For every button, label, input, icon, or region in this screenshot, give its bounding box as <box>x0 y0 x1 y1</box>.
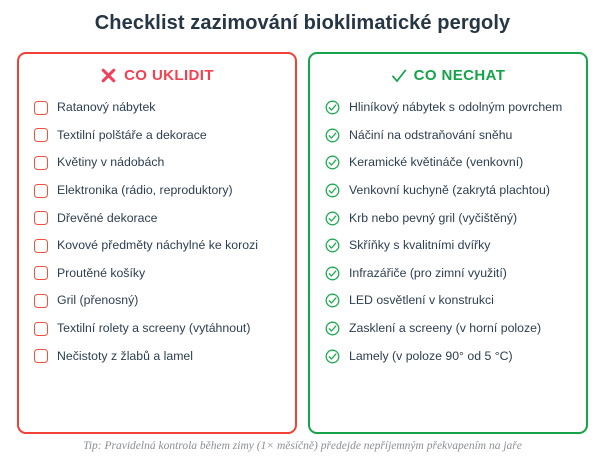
circle-check-icon[interactable] <box>325 183 340 198</box>
circle-check-icon[interactable] <box>325 349 340 364</box>
remove-items-list: Ratanový nábytek Textilní polštáře a dek… <box>19 89 295 370</box>
list-item[interactable]: Ratanový nábytek <box>19 94 295 122</box>
keep-items-list: Hliníkový nábytek s odolným povrchem Náč… <box>310 89 586 370</box>
list-item[interactable]: Elektronika (rádio, reproduktory) <box>19 177 295 205</box>
panel-keep-header-label: CO NECHAT <box>414 67 506 84</box>
circle-check-icon[interactable] <box>325 238 340 253</box>
list-item-label: Zasklení a screeny (v horní poloze) <box>349 321 541 336</box>
list-item-label: Květiny v nádobách <box>57 155 164 170</box>
panels-container: CO UKLIDIT Ratanový nábytek Textilní pol… <box>17 52 588 434</box>
list-item-label: Nečistoty z žlabů a lamel <box>57 349 193 364</box>
check-icon <box>391 68 407 84</box>
empty-checkbox-icon[interactable] <box>34 266 48 280</box>
list-item-label: Krb nebo pevný gril (vyčištěný) <box>349 211 517 226</box>
list-item[interactable]: Keramické květináče (venkovní) <box>310 149 586 177</box>
empty-checkbox-icon[interactable] <box>34 294 48 308</box>
panel-co-nechat: CO NECHAT Hliníkový nábytek s odolným po… <box>308 52 588 434</box>
list-item-label: Skříňky s kvalitními dvířky <box>349 238 490 253</box>
circle-check-icon[interactable] <box>325 321 340 336</box>
empty-checkbox-icon[interactable] <box>34 211 48 225</box>
circle-check-icon[interactable] <box>325 155 340 170</box>
list-item[interactable]: Skříňky s kvalitními dvířky <box>310 232 586 260</box>
empty-checkbox-icon[interactable] <box>34 128 48 142</box>
list-item[interactable]: Lamely (v poloze 90° od 5 °C) <box>310 342 586 370</box>
checklist-infographic: Checklist zazimování bioklimatické pergo… <box>0 0 605 461</box>
list-item[interactable]: LED osvětlení v konstrukci <box>310 287 586 315</box>
list-item[interactable]: Kovové předměty náchylné ke korozi <box>19 232 295 260</box>
list-item[interactable]: Proutěné košíky <box>19 260 295 288</box>
circle-check-icon[interactable] <box>325 128 340 143</box>
list-item[interactable]: Hliníkový nábytek s odolným povrchem <box>310 94 586 122</box>
list-item-label: Proutěné košíky <box>57 266 145 281</box>
list-item[interactable]: Venkovní kuchyně (zakrytá plachtou) <box>310 177 586 205</box>
list-item-label: Lamely (v poloze 90° od 5 °C) <box>349 349 513 364</box>
list-item[interactable]: Infrazářiče (pro zimní využití) <box>310 260 586 288</box>
list-item-label: Náčiní na odstraňování sněhu <box>349 128 512 143</box>
list-item-label: Gril (přenosný) <box>57 293 138 308</box>
panel-remove-header-label: CO UKLIDIT <box>124 67 214 84</box>
empty-checkbox-icon[interactable] <box>34 239 48 253</box>
page-title: Checklist zazimování bioklimatické pergo… <box>0 0 605 36</box>
empty-checkbox-icon[interactable] <box>34 349 48 363</box>
circle-check-icon[interactable] <box>325 293 340 308</box>
empty-checkbox-icon[interactable] <box>34 101 48 115</box>
list-item[interactable]: Zasklení a screeny (v horní poloze) <box>310 315 586 343</box>
empty-checkbox-icon[interactable] <box>34 156 48 170</box>
panel-co-uklidit: CO UKLIDIT Ratanový nábytek Textilní pol… <box>17 52 297 434</box>
empty-checkbox-icon[interactable] <box>34 184 48 198</box>
list-item[interactable]: Květiny v nádobách <box>19 149 295 177</box>
list-item-label: Textilní polštáře a dekorace <box>57 128 207 143</box>
circle-check-icon[interactable] <box>325 266 340 281</box>
list-item-label: Elektronika (rádio, reproduktory) <box>57 183 233 198</box>
list-item-label: Infrazářiče (pro zimní využití) <box>349 266 507 281</box>
list-item[interactable]: Dřevěné dekorace <box>19 204 295 232</box>
empty-checkbox-icon[interactable] <box>34 322 48 336</box>
list-item-label: Venkovní kuchyně (zakrytá plachtou) <box>349 183 550 198</box>
list-item-label: Kovové předměty náchylné ke korozi <box>57 238 258 253</box>
list-item[interactable]: Textilní rolety a screeny (vytáhnout) <box>19 315 295 343</box>
footer-tip: Tip: Pravidelná kontrola během zimy (1× … <box>0 440 605 452</box>
list-item-label: Dřevěné dekorace <box>57 211 157 226</box>
circle-check-icon[interactable] <box>325 211 340 226</box>
list-item[interactable]: Náčiní na odstraňování sněhu <box>310 122 586 150</box>
list-item[interactable]: Gril (přenosný) <box>19 287 295 315</box>
list-item-label: LED osvětlení v konstrukci <box>349 293 494 308</box>
list-item-label: Textilní rolety a screeny (vytáhnout) <box>57 321 250 336</box>
panel-remove-header: CO UKLIDIT <box>19 54 295 89</box>
list-item[interactable]: Nečistoty z žlabů a lamel <box>19 342 295 370</box>
cross-icon <box>100 67 117 84</box>
panel-keep-header: CO NECHAT <box>310 54 586 89</box>
list-item-label: Hliníkový nábytek s odolným povrchem <box>349 100 562 115</box>
list-item-label: Keramické květináče (venkovní) <box>349 155 523 170</box>
list-item[interactable]: Krb nebo pevný gril (vyčištěný) <box>310 204 586 232</box>
circle-check-icon[interactable] <box>325 100 340 115</box>
list-item-label: Ratanový nábytek <box>57 100 155 115</box>
list-item[interactable]: Textilní polštáře a dekorace <box>19 122 295 150</box>
